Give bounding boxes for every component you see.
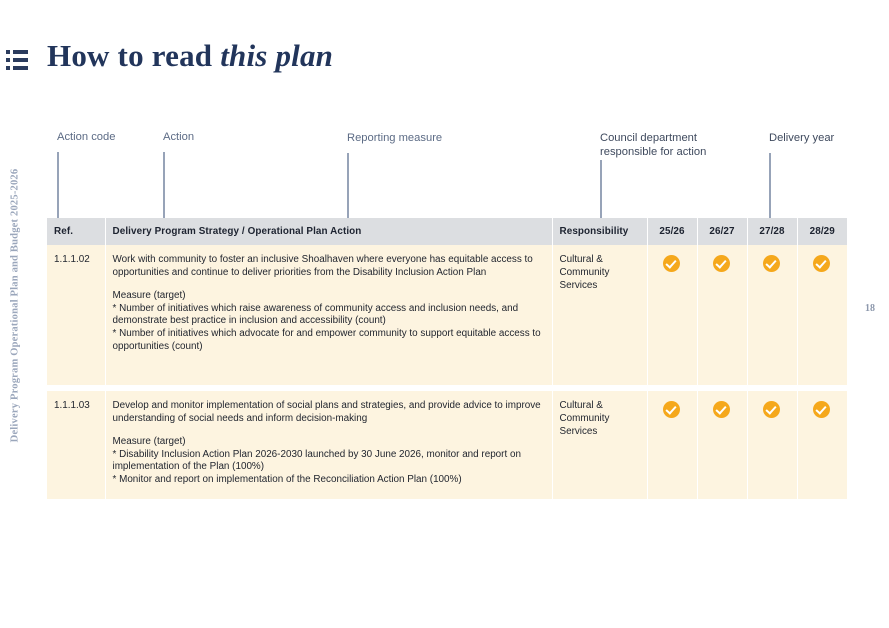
annotation-label-action: Action (163, 130, 194, 144)
cell-year-2627 (697, 391, 747, 499)
action-description: Work with community to foster an inclusi… (113, 254, 544, 279)
table-row: 1.1.1.03 Develop and monitor implementat… (47, 391, 847, 499)
vertical-running-header: Delivery Program Operational Plan and Bu… (0, 0, 24, 628)
cell-year-2526 (647, 391, 697, 499)
cell-year-2728 (747, 391, 797, 499)
cell-year-2627 (697, 245, 747, 385)
annotation-label-council-department: Council department responsible for actio… (600, 131, 706, 159)
cell-responsibility: Cultural & Community Services (552, 391, 647, 499)
check-circle-icon (813, 255, 830, 272)
cell-action: Work with community to foster an inclusi… (105, 245, 552, 385)
column-header-year-2728: 27/28 (747, 218, 797, 245)
cell-action: Develop and monitor implementation of so… (105, 391, 552, 499)
check-circle-icon (713, 401, 730, 418)
document-page: Delivery Program Operational Plan and Bu… (0, 0, 889, 628)
annotation-label-reporting-measure: Reporting measure (347, 131, 442, 145)
check-circle-icon (813, 401, 830, 418)
table-row: 1.1.1.02 Work with community to foster a… (47, 245, 847, 385)
cell-year-2526 (647, 245, 697, 385)
check-circle-icon (763, 401, 780, 418)
cell-responsibility: Cultural & Community Services (552, 245, 647, 385)
action-description: Develop and monitor implementation of so… (113, 400, 544, 425)
column-header-year-2829: 28/29 (797, 218, 847, 245)
page-title-plain: How to read (47, 38, 220, 73)
column-header-ref: Ref. (47, 218, 105, 245)
measure-item: * Number of initiatives which raise awar… (113, 303, 544, 328)
table-header-row: Ref. Delivery Program Strategy / Operati… (47, 218, 847, 245)
plan-table: Ref. Delivery Program Strategy / Operati… (47, 218, 847, 499)
page-number: 18 (865, 303, 875, 314)
annotation-label-delivery-year: Delivery year (769, 131, 834, 145)
page-title-emphasis: this plan (220, 38, 333, 73)
cell-year-2728 (747, 245, 797, 385)
column-header-responsibility: Responsibility (552, 218, 647, 245)
check-circle-icon (713, 255, 730, 272)
measure-heading: Measure (target) (113, 290, 544, 303)
cell-ref: 1.1.1.02 (47, 245, 105, 385)
measure-item: * Number of initiatives which advocate f… (113, 328, 544, 353)
check-circle-icon (663, 401, 680, 418)
column-header-year-2627: 26/27 (697, 218, 747, 245)
cell-year-2829 (797, 245, 847, 385)
column-header-year-2526: 25/26 (647, 218, 697, 245)
vertical-running-header-text: Delivery Program Operational Plan and Bu… (10, 141, 21, 471)
check-circle-icon (663, 255, 680, 272)
measure-heading: Measure (target) (113, 436, 544, 449)
annotation-label-action-code: Action code (57, 130, 115, 144)
cell-year-2829 (797, 391, 847, 499)
page-title: How to read this plan (47, 38, 333, 74)
measure-item: * Disability Inclusion Action Plan 2026-… (113, 449, 544, 474)
cell-ref: 1.1.1.03 (47, 391, 105, 499)
check-circle-icon (763, 255, 780, 272)
column-header-action: Delivery Program Strategy / Operational … (105, 218, 552, 245)
measure-item: * Monitor and report on implementation o… (113, 474, 544, 487)
